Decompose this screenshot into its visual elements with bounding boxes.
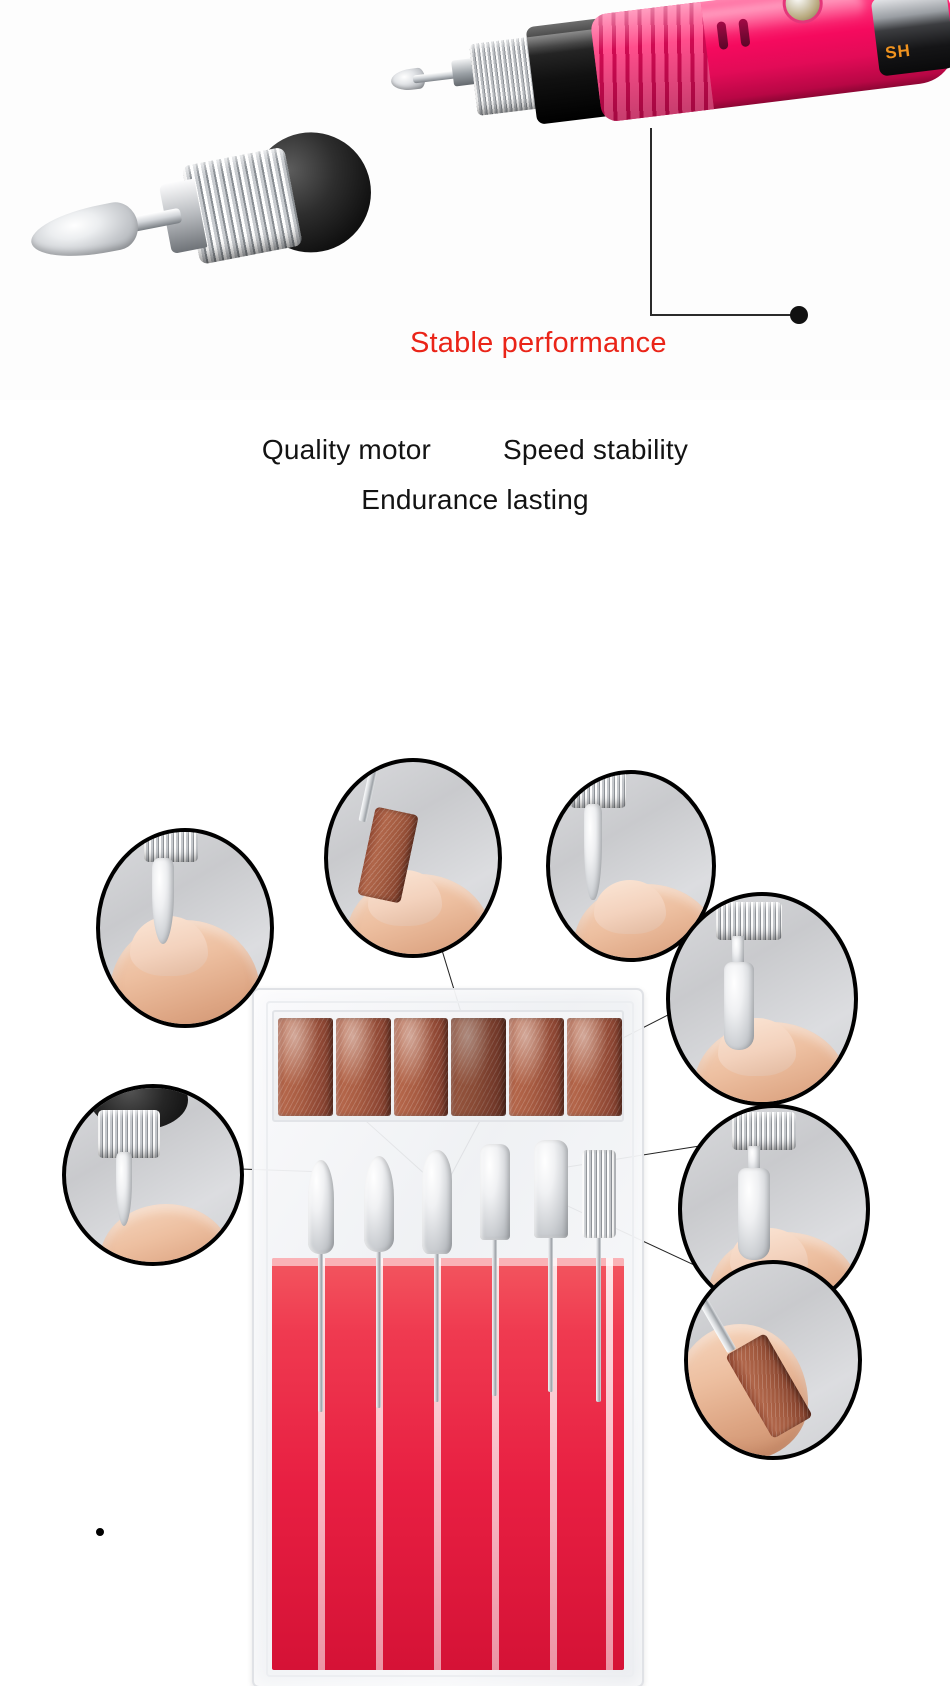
- sanding-band-3: [394, 1018, 449, 1116]
- sanding-band-1: [278, 1018, 333, 1116]
- bit-head-mandrel: [582, 1150, 616, 1238]
- callout-leader-vertical: [650, 128, 652, 316]
- sanding-band-row: [278, 1018, 622, 1116]
- bit-head-flame-large: [364, 1156, 394, 1252]
- stable-performance-label: Stable performance: [410, 327, 880, 360]
- bit-head-flame: [308, 1160, 334, 1254]
- bit-head-cone: [422, 1150, 452, 1254]
- kit-with-callouts: [0, 700, 950, 1686]
- drill-brand-plate: SH: [871, 0, 950, 77]
- callout-sanding-band-on-nail[interactable]: [324, 758, 502, 958]
- feature-speed-stability: Speed stability: [503, 434, 688, 466]
- bit-head-barrel: [480, 1144, 510, 1240]
- callout-flame-bit-on-nail[interactable]: [96, 828, 274, 1028]
- feature-endurance-lasting: Endurance lasting: [361, 484, 589, 516]
- sanding-band-5: [509, 1018, 564, 1116]
- sanding-band-2: [336, 1018, 391, 1116]
- cone-bit: [584, 804, 602, 900]
- inset-closeup-flame-bit: [0, 117, 380, 323]
- inset-diamond-head: [27, 199, 142, 267]
- callout-leader-horizontal: [650, 314, 796, 316]
- bit-head-barrel-wide: [534, 1140, 568, 1238]
- chuck-nut: [570, 770, 626, 808]
- sanding-band-6: [567, 1018, 622, 1116]
- feature-row-primary: Quality motor Speed stability: [0, 434, 950, 466]
- top-product-banner: SH Stable performance: [0, 0, 950, 400]
- drill-brand-text: SH: [884, 41, 912, 64]
- drill-grip-rings: [590, 2, 714, 123]
- callout-mandrel-with-band[interactable]: [684, 1260, 862, 1460]
- foam-slot-6: [606, 1258, 613, 1670]
- callout-end-dot: [790, 306, 808, 324]
- product-detail-page: SH Stable performance Quality motor Spee…: [0, 0, 950, 1686]
- feature-row-secondary: Endurance lasting: [0, 484, 950, 516]
- sanding-band-tray: [272, 1010, 624, 1122]
- red-foam-insert: [272, 1258, 624, 1670]
- chuck-nut: [144, 828, 198, 862]
- barrel-bit-wide: [738, 1168, 770, 1260]
- chuck-nut: [98, 1110, 160, 1158]
- chuck-nut: [732, 1112, 796, 1150]
- electric-nail-drill: SH: [385, 0, 950, 197]
- callout-barrel-bit-on-nail[interactable]: [666, 892, 858, 1106]
- sanding-band-4: [451, 1018, 506, 1116]
- feature-quality-motor: Quality motor: [262, 434, 431, 466]
- barrel-bit: [724, 962, 754, 1050]
- callout-flame-bit-in-handpiece[interactable]: [62, 1084, 244, 1266]
- chuck-nut: [716, 902, 782, 940]
